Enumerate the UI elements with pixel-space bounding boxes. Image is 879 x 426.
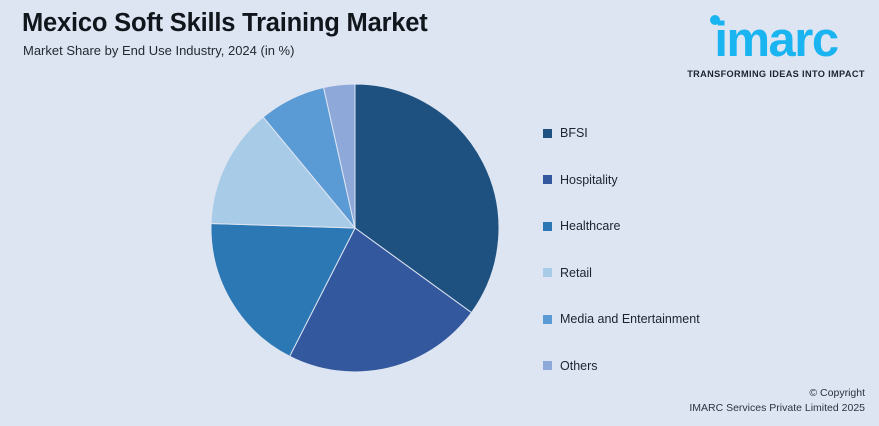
legend-swatch-icon bbox=[543, 315, 552, 324]
legend-item-label: Hospitality bbox=[560, 173, 618, 187]
legend-item[interactable]: Healthcare bbox=[543, 203, 843, 250]
legend-item-label: Others bbox=[560, 359, 598, 373]
legend-item-label: Healthcare bbox=[560, 219, 620, 233]
chart-subtitle: Market Share by End Use Industry, 2024 (… bbox=[23, 43, 294, 58]
copyright-line-2: IMARC Services Private Limited 2025 bbox=[689, 401, 865, 416]
page-title: Mexico Soft Skills Training Market bbox=[22, 9, 428, 38]
pie-chart bbox=[210, 83, 500, 373]
logo-wordmark: imarc bbox=[683, 16, 869, 65]
legend-swatch-icon bbox=[543, 129, 552, 138]
legend-swatch-icon bbox=[543, 222, 552, 231]
legend-item[interactable]: Media and Entertainment bbox=[543, 296, 843, 343]
logo-tagline: TRANSFORMING IDEAS INTO IMPACT bbox=[683, 69, 869, 79]
legend-item[interactable]: Retail bbox=[543, 250, 843, 297]
legend-swatch-icon bbox=[543, 361, 552, 370]
legend-item[interactable]: Hospitality bbox=[543, 157, 843, 204]
legend-swatch-icon bbox=[543, 268, 552, 277]
legend-item[interactable]: BFSI bbox=[543, 110, 843, 157]
legend-item[interactable]: Others bbox=[543, 343, 843, 390]
copyright-block: © Copyright IMARC Services Private Limit… bbox=[689, 386, 865, 416]
legend-swatch-icon bbox=[543, 175, 552, 184]
copyright-line-1: © Copyright bbox=[689, 386, 865, 401]
chart-canvas: Mexico Soft Skills Training Market Marke… bbox=[0, 0, 879, 426]
legend-item-label: Media and Entertainment bbox=[560, 312, 700, 326]
legend-item-label: BFSI bbox=[560, 126, 588, 140]
imarc-logo: imarc TRANSFORMING IDEAS INTO IMPACT bbox=[683, 8, 869, 78]
chart-legend: BFSIHospitalityHealthcareRetailMedia and… bbox=[543, 110, 843, 389]
legend-item-label: Retail bbox=[560, 266, 592, 280]
pie-chart-svg bbox=[210, 83, 500, 373]
